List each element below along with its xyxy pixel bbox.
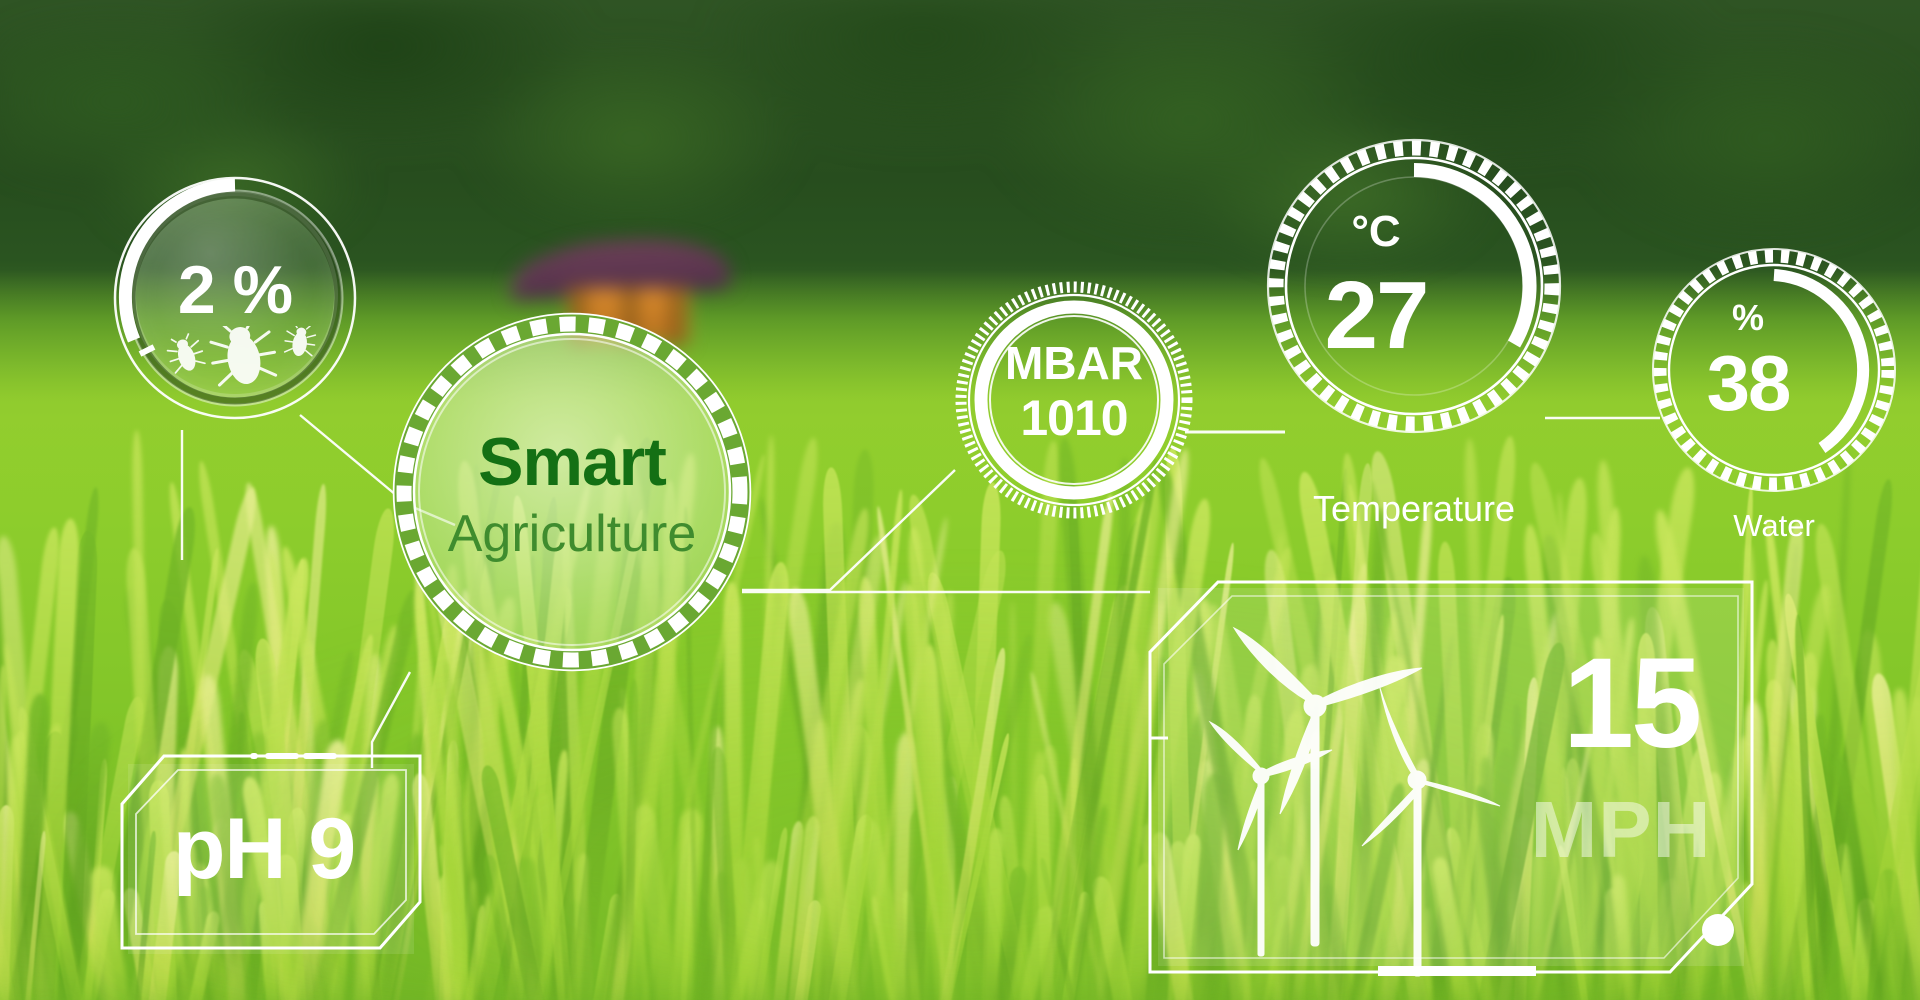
- temperature-value: 27: [1228, 268, 1524, 364]
- temperature-caption: Temperature: [1266, 488, 1562, 530]
- pressure-unit: MBAR: [954, 340, 1194, 386]
- pressure-value: 1010: [954, 393, 1194, 443]
- water-caption: Water: [1652, 508, 1896, 544]
- water-unit: %: [1626, 300, 1870, 336]
- pest-gauge[interactable]: 2 %: [110, 172, 360, 427]
- pressure-gauge[interactable]: MBAR 1010: [954, 280, 1194, 520]
- insect-icon: [162, 326, 334, 396]
- water-gauge[interactable]: % 38: [1652, 248, 1896, 492]
- wind-panel[interactable]: 15 MPH: [1146, 578, 1756, 978]
- temperature-unit: °C: [1228, 210, 1524, 254]
- ph-panel[interactable]: pH 9: [118, 752, 424, 967]
- brand-subtitle: Agriculture: [388, 504, 756, 564]
- brand-title: Smart: [388, 423, 756, 501]
- ph-value: pH 9: [118, 800, 424, 899]
- water-value: 38: [1626, 344, 1870, 422]
- pest-value: 2 %: [110, 256, 360, 324]
- wind-value: 15: [1516, 640, 1746, 768]
- temperature-gauge[interactable]: °C 27: [1266, 138, 1562, 434]
- screenshot-root: 2 %: [0, 0, 1920, 1000]
- brand-circle[interactable]: Smart Agriculture: [388, 308, 756, 676]
- wind-unit: MPH: [1496, 790, 1746, 870]
